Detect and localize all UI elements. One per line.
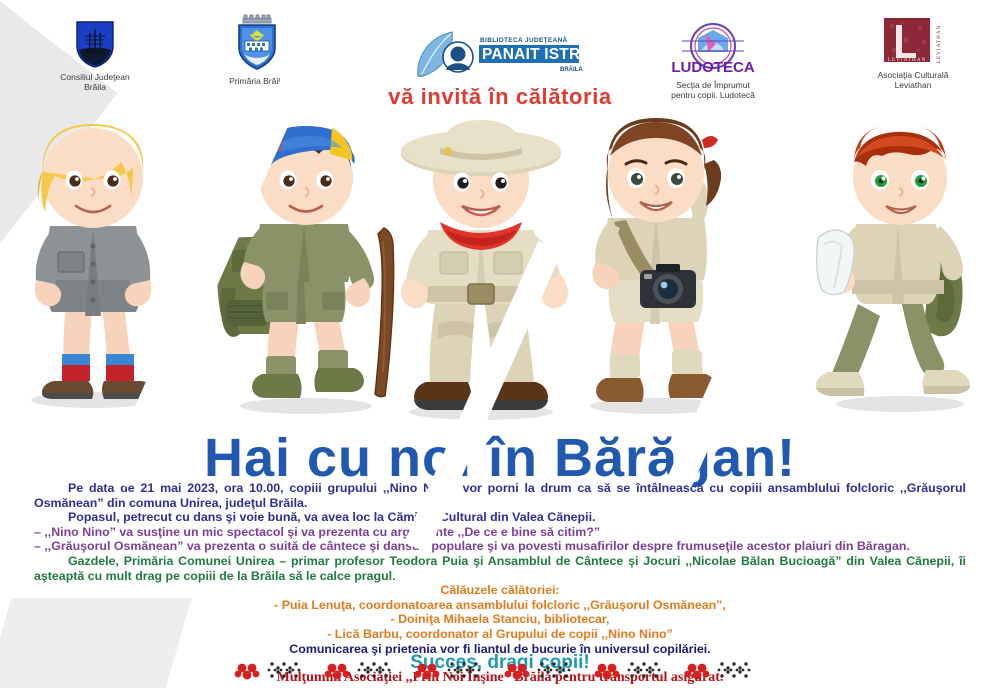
coat-of-arms-icon	[30, 20, 160, 70]
walking-stick	[366, 222, 406, 402]
biblioteca-line3: BRĂILA	[560, 66, 583, 73]
ludoteca-badge-icon: LUDOTECA	[638, 22, 788, 78]
folk-motif-icon	[220, 659, 780, 685]
biblioteca-line1: BIBLIOTECA JUDEŢEANĂ	[480, 35, 568, 44]
children-explorers-illustration	[0, 112, 1000, 432]
logo-consiliul-judetean-braila: Consiliul Judeţean Brăila	[30, 20, 160, 92]
folk-motif-border	[0, 658, 1000, 686]
leviathan-wordmark-side: LEVIATHAN	[936, 25, 942, 63]
logo-caption-line1: Consiliul Judeţean	[30, 72, 160, 82]
body-text-block: Pe data de 21 mai 2023, ora 10.00, copii…	[34, 481, 966, 685]
guides-title: Călăuzele călătoriei:	[34, 583, 966, 598]
guide-item: - Lică Barbu, coordonator al Grupului de…	[34, 627, 966, 642]
poster-root: Consiliul Judeţean Brăila	[0, 0, 1000, 688]
ludoteca-wordmark: LUDOTECA	[671, 59, 754, 76]
paragraph-5: Gazdele, Primăria Comunei Unirea – prima…	[34, 554, 966, 583]
guide-item: - Puia Lenuţa, coordonatoarea ansamblulu…	[34, 598, 966, 613]
paragraph-2: Popasul, petrecut cu dans şi voie bună, …	[34, 510, 966, 525]
paragraph-4: – ,,Grăuşorul Osmănean” va prezenta o su…	[34, 539, 966, 554]
guides-section: Călăuzele călătoriei: - Puia Lenuţa, coo…	[34, 583, 966, 641]
biblioteca-line2: PANAIT ISTRATI	[482, 46, 586, 63]
paragraph-3: – ,,Nino Nino” va susţine un mic spectac…	[34, 525, 966, 540]
logo-biblioteca-panait-istrati: BIBLIOTECA JUDEŢEANĂ PANAIT ISTRATI BRĂI…	[408, 26, 588, 86]
guide-item: - Doiniţa Mihaela Stanciu, bibliotecar,	[34, 612, 966, 627]
paragraph-1: Pe data de 21 mai 2023, ora 10.00, copii…	[34, 481, 966, 510]
feather-and-portrait-icon: BIBLIOTECA JUDEŢEANĂ PANAIT ISTRATI BRĂI…	[408, 26, 588, 84]
leviathan-emblem-icon: LEVIATHAN LEVIATHAN	[848, 16, 978, 68]
leviathan-wordmark-bottom: LEVIATHAN	[888, 57, 926, 63]
